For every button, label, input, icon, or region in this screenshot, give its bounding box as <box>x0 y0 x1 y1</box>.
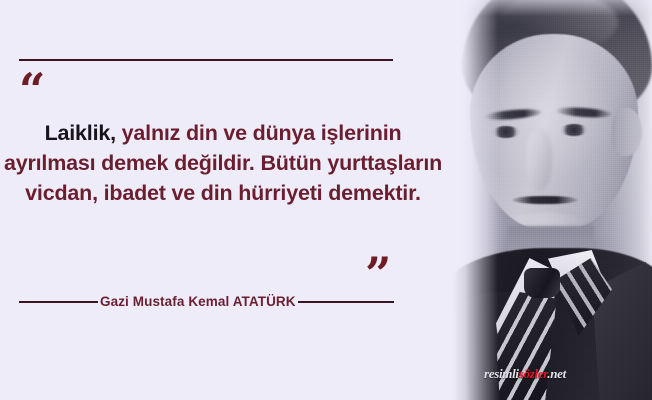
quote-lead-word: Laiklik, <box>45 121 116 145</box>
quote-content: “ Laiklik, yalnız din ve dünya işlerinin… <box>0 0 462 400</box>
watermark-part-1: resimli <box>484 366 519 381</box>
attribution-rule-left <box>19 301 98 303</box>
quote-line-3: vicdan, ibadet ve din hürriyeti demektir… <box>0 178 462 208</box>
closing-quote-mark: ” <box>365 251 390 297</box>
quote-line-2: ayrılması demek değildir. Bütün yurttaşl… <box>0 148 462 178</box>
ataturk-portrait-photo <box>452 0 652 400</box>
top-divider-rule <box>19 59 393 61</box>
quote-line-1: Laiklik, yalnız din ve dünya işlerinin <box>0 118 462 148</box>
site-watermark: resimlisözler.net <box>484 366 566 382</box>
attribution: Gazi Mustafa Kemal ATATÜRK <box>19 294 394 309</box>
quote-line-1-rest: yalnız din ve dünya işlerinin <box>116 121 402 145</box>
attribution-name: Gazi Mustafa Kemal ATATÜRK <box>98 294 298 309</box>
quote-text: Laiklik, yalnız din ve dünya işlerinin a… <box>0 118 462 208</box>
quote-card: “ Laiklik, yalnız din ve dünya işlerinin… <box>0 0 652 400</box>
watermark-part-3: .net <box>547 366 566 381</box>
opening-quote-mark: “ <box>19 67 44 113</box>
watermark-part-2: sözler <box>519 366 548 381</box>
attribution-rule-right <box>298 301 394 303</box>
